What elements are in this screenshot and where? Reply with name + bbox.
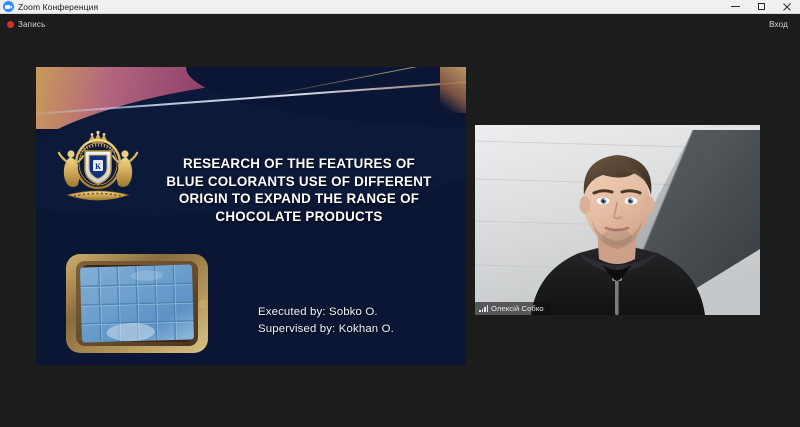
slide-title-line: CHOCOLATE PRODUCTS [144,208,454,226]
maximize-button[interactable] [748,0,774,14]
university-coat-of-arms: К [52,127,144,219]
recording-indicator[interactable]: Запись [7,20,45,29]
minimize-icon [731,6,740,7]
close-button[interactable] [774,0,800,14]
participant-name-badge: Олексій Собко [475,302,551,315]
slide-credits: Executed by: Sobko O. Supervised by: Kok… [258,304,394,337]
participant-name: Олексій Собко [491,304,544,313]
zoom-meeting-window: Zoom Конференция Запись Вход [0,0,800,427]
credit-supervised-by: Supervised by: Kokhan O. [258,321,394,338]
participant-webcam-feed [475,125,760,315]
window-controls [722,0,800,14]
slide-corner-gold-accent [440,67,466,113]
slide-title-line: RESEARCH OF THE FEATURES OF [144,155,454,173]
window-title: Zoom Конференция [18,2,98,12]
maximize-icon [758,3,765,10]
window-titlebar: Zoom Конференция [0,0,800,14]
close-icon [783,3,791,11]
blue-chocolate-bar-photo [60,250,214,357]
zoom-camera-icon [3,1,14,12]
signal-bars-icon [479,305,488,312]
minimize-button[interactable] [722,0,748,14]
meeting-content-area: Запись Вход [0,14,800,427]
credit-executed-by: Executed by: Sobko O. [258,304,394,321]
slide-title-line: BLUE COLORANTS USE OF DIFFERENT [144,173,454,191]
shared-screen-slide[interactable]: К RESEARCH OF THE FEATURES [36,67,466,365]
participant-video-tile[interactable]: Олексій Собко [475,125,760,315]
slide-title-line: ORIGIN TO EXPAND THE RANGE OF [144,190,454,208]
svg-text:К: К [95,162,101,171]
record-dot-icon [7,21,14,28]
login-button[interactable]: Вход [763,18,794,31]
slide-title: RESEARCH OF THE FEATURES OF BLUE COLORAN… [144,155,454,226]
recording-label: Запись [18,20,45,29]
